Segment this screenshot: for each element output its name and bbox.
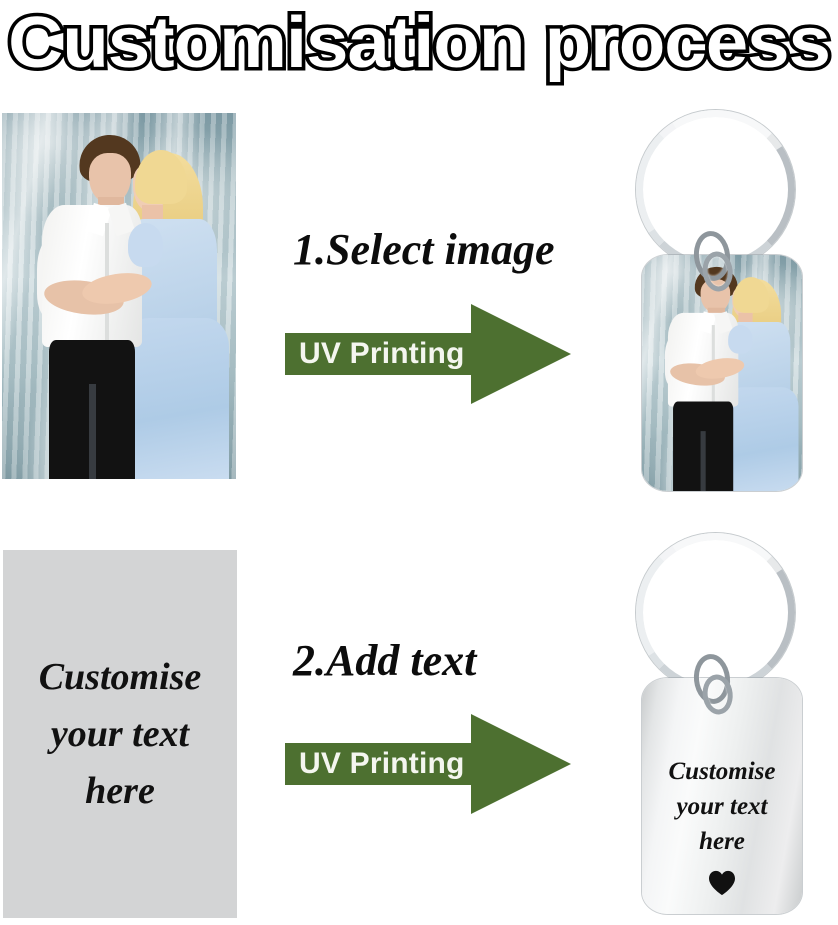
keychain-with-text: Customise your text here [628, 533, 808, 921]
uv-printing-arrow-step-1: UV Printing [285, 304, 571, 404]
man-trouser-crease [89, 384, 96, 479]
heart-icon [708, 870, 736, 896]
tag-woman-sleeve [729, 325, 753, 354]
arrow-shape [285, 714, 571, 814]
step-2-label: 2.Add text [293, 636, 476, 686]
couple-photo-illustration [2, 113, 236, 479]
page-title: Customisation process [0, 2, 838, 84]
step-1-label: 1.Select image [293, 225, 555, 275]
keychain-with-photo [628, 110, 808, 496]
source-photo [2, 113, 236, 479]
arrow-shape [285, 304, 571, 404]
engraved-text: Customise your text here [648, 754, 796, 859]
tag-man-trouser-crease [701, 431, 706, 491]
uv-printing-arrow-step-2: UV Printing [285, 714, 571, 814]
custom-text-panel: Customise your text here [3, 550, 237, 918]
custom-text-preview: Customise your text here [39, 649, 202, 820]
woman-sleeve [128, 223, 163, 267]
